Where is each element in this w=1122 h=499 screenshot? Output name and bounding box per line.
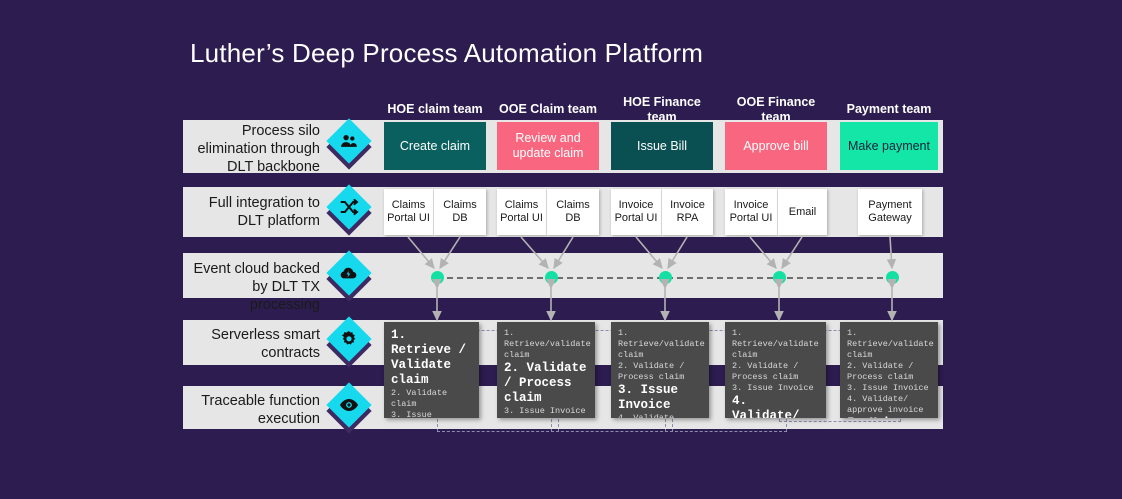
system-box-label: Invoice RPA [665,199,710,225]
row-label-event-cloud: Event cloud backed by DLT TX processing [186,260,320,314]
system-box-claims-portal-ui-2[interactable]: Claims Portal UI [497,189,546,235]
column-header-hoe-claim: HOE claim team [384,102,486,117]
code-step: 4. Validate invoice [504,417,588,418]
code-step: 4. Validate/ approve invoice [847,394,931,416]
code-panel-2[interactable]: 1. Retrieve/validate claim 2. Validate /… [497,322,595,418]
code-step: 1. Retrieve/validate claim [504,328,588,361]
code-panel-4[interactable]: 1. Retrieve/validate claim 2. Validate /… [725,322,826,418]
event-bus-node-2[interactable] [545,271,558,284]
code-step: 3. Issue Invoice [847,383,931,394]
system-box-label: Payment Gateway [861,199,919,225]
system-box-claims-db-2[interactable]: Claims DB [547,189,599,235]
process-box-label: Approve bill [743,139,808,154]
row-label-traceable: Traceable function execution [190,392,320,428]
eye-icon [329,388,373,432]
code-panel-5[interactable]: 1. Retrieve/validate claim 2. Validate /… [840,322,938,418]
page-title: Luther’s Deep Process Automation Platfor… [190,38,703,69]
column-header-ooe-claim: OOE Claim team [497,102,599,117]
code-step: 2. Validate / Process claim [732,361,819,383]
code-step-highlight: 5. Make payment [847,416,931,418]
process-box-label: Review and update claim [501,131,595,161]
shuffle-icon [329,190,373,234]
code-step-highlight: 1. Retrieve / Validate claim [391,328,472,388]
system-box-invoice-rpa[interactable]: Invoice RPA [662,189,713,235]
system-box-label: Claims DB [550,199,596,225]
code-step-highlight: 2. Validate / Process claim [504,361,588,406]
code-step: 2. Validate / Process claim [847,361,931,383]
column-header-payment: Payment team [840,102,938,117]
code-step: 1. Retrieve/validate claim [732,328,819,361]
code-step: 1. Retrieve/validate claim [618,328,702,361]
system-box-label: Claims DB [437,199,483,225]
system-box-email[interactable]: Email [778,189,827,235]
system-box-label: Invoice Portal UI [614,199,658,225]
event-bus-node-5[interactable] [886,271,899,284]
code-step: 3. Issue Invoice [504,406,588,417]
process-box-create-claim[interactable]: Create claim [384,122,486,170]
system-box-label: Claims Portal UI [387,199,430,225]
system-box-invoice-portal-ui-2[interactable]: Invoice Portal UI [725,189,777,235]
system-box-invoice-portal-ui-1[interactable]: Invoice Portal UI [611,189,661,235]
code-step: 3. Issue Invoice [732,383,819,394]
code-step: 1. Retrieve/validate claim [847,328,931,361]
process-box-label: Create claim [400,139,470,154]
row-label-full-integration: Full integration to DLT platform [190,194,320,230]
slide-canvas: Luther’s Deep Process Automation Platfor… [0,0,1122,499]
event-bus-node-1[interactable] [431,271,444,284]
row-label-serverless: Serverless smart contracts [190,326,320,362]
process-box-review-update-claim[interactable]: Review and update claim [497,122,599,170]
event-bus-node-4[interactable] [773,271,786,284]
system-box-payment-gateway[interactable]: Payment Gateway [858,189,922,235]
people-icon [329,124,373,168]
code-step-highlight: 4. Validate/ approve invoice [732,394,819,418]
process-box-issue-bill[interactable]: Issue Bill [611,122,713,170]
code-step: 3. Issue Invoice [391,410,472,418]
process-box-approve-bill[interactable]: Approve bill [725,122,827,170]
system-box-claims-portal-ui-1[interactable]: Claims Portal UI [384,189,433,235]
event-bus-node-3[interactable] [659,271,672,284]
row-label-process-silo: Process silo elimination through DLT bac… [190,122,320,176]
cloud-bolt-icon [329,256,373,300]
process-box-label: Make payment [848,139,930,154]
system-box-label: Email [789,206,817,219]
code-step-highlight: 3. Issue Invoice [618,383,702,413]
system-box-label: Invoice Portal UI [728,199,774,225]
process-box-make-payment[interactable]: Make payment [840,122,938,170]
code-step: 2. Validate claim [391,388,472,410]
code-panel-1[interactable]: 1. Retrieve / Validate claim 2. Validate… [384,322,479,418]
gear-icon [329,322,373,366]
code-panel-3[interactable]: 1. Retrieve/validate claim 2. Validate /… [611,322,709,418]
process-box-label: Issue Bill [637,139,687,154]
system-box-claims-db-1[interactable]: Claims DB [434,189,486,235]
code-step: 4. Validate invoice [618,413,702,418]
system-box-label: Claims Portal UI [500,199,543,225]
code-step: 2. Validate / Process claim [618,361,702,383]
